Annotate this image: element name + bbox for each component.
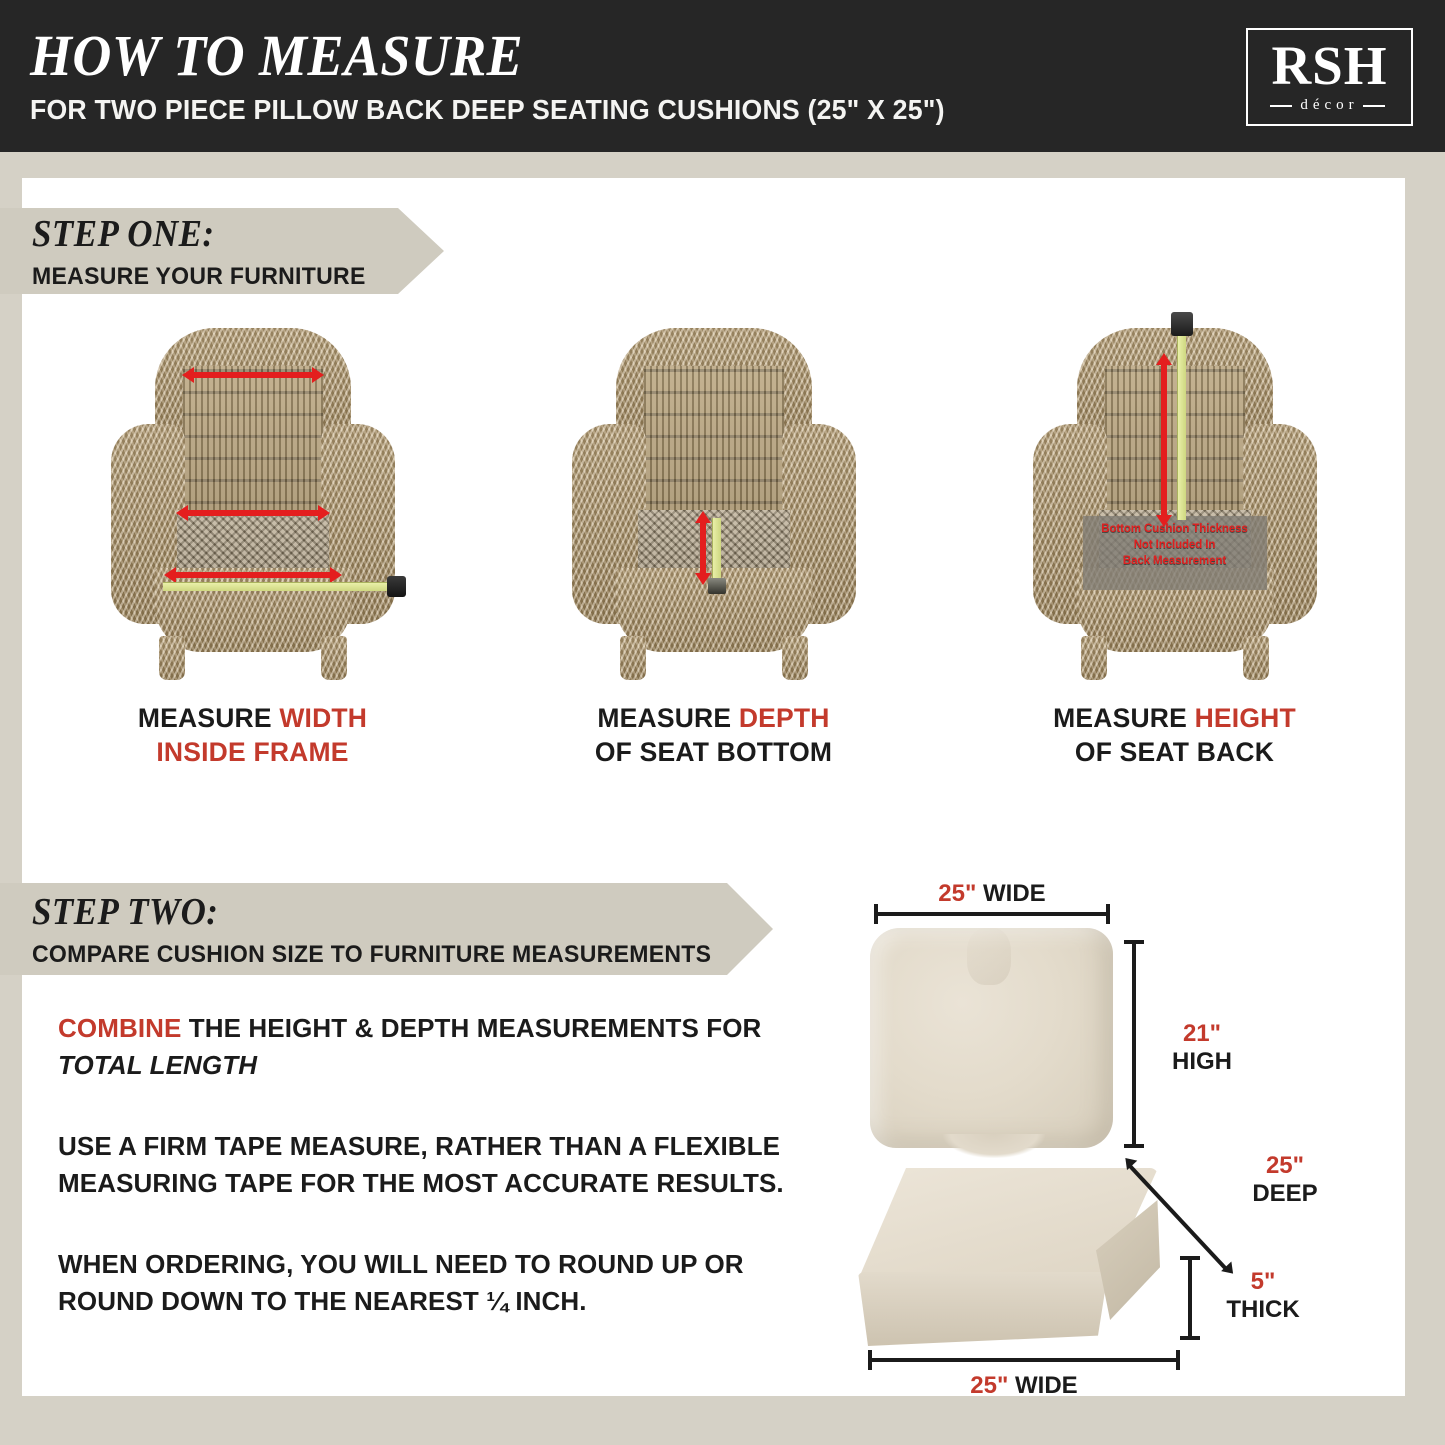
chair-back-weave (1105, 366, 1245, 526)
step-two-label: STEP TWO: (32, 890, 714, 934)
back-pillow-illustration (870, 928, 1113, 1148)
chair-illustration-height: Bottom Cushion Thickness Not Included In… (1025, 320, 1325, 680)
para1-middle: THE HEIGHT & DEPTH MEASUREMENTS FOR (181, 1013, 761, 1043)
chair-leg-left (1081, 636, 1107, 680)
pillow-height-label: 21"HIGH (1152, 1020, 1252, 1077)
width-arrow-upper (193, 372, 313, 378)
chair-card-depth: MEASURE DEPTH OF SEAT BOTTOM (514, 320, 914, 770)
warning-line-1: Bottom Cushion Thickness (1083, 522, 1267, 538)
caption-line2: OF SEAT BACK (975, 736, 1375, 770)
logo-tagline: décor (1300, 97, 1358, 114)
chair-illustration-depth (564, 320, 864, 680)
combine-accent: COMBINE (58, 1013, 181, 1043)
pillow-height-value: 21" (1183, 1020, 1221, 1047)
width-arrow-lower (175, 572, 331, 578)
caption-prefix: MEASURE (1053, 703, 1194, 733)
step-one-description: MEASURE YOUR FURNITURE (32, 263, 428, 291)
seat-thickness-value: 5" (1251, 1268, 1276, 1295)
seat-width-dimension-line (868, 1358, 1180, 1362)
instruction-paragraph-3: WHEN ORDERING, YOU WILL NEED TO ROUND UP… (58, 1246, 818, 1320)
width-arrow-middle (187, 510, 319, 516)
step-two-description: COMPARE CUSHION SIZE TO FURNITURE MEASUR… (32, 941, 743, 969)
caption-accent: DEPTH (739, 703, 830, 733)
chair-leg-right (782, 636, 808, 680)
chair-leg-left (620, 636, 646, 680)
logo-wordmark: RSH (1271, 40, 1387, 92)
seat-thickness-label: 5"THICK (1208, 1268, 1318, 1325)
seat-thickness-dimension-line (1188, 1256, 1192, 1340)
chair-caption-depth: MEASURE DEPTH OF SEAT BOTTOM (514, 702, 914, 770)
chair-leg-right (321, 636, 347, 680)
warning-line-3: Back Measurement (1083, 554, 1267, 570)
chair-card-height: Bottom Cushion Thickness Not Included In… (975, 320, 1375, 770)
seat-depth-value: 25" (1266, 1152, 1304, 1179)
pillow-width-word: WIDE (983, 880, 1046, 907)
pillow-height-dimension-line (1132, 940, 1136, 1148)
page-header: HOW TO MEASURE FOR TWO PIECE PILLOW BACK… (0, 0, 1445, 152)
pillow-width-value: 25" (938, 880, 976, 907)
step-two-banner: STEP TWO: COMPARE CUSHION SIZE TO FURNIT… (0, 883, 773, 975)
seat-depth-label: 25"DEEP (1230, 1152, 1340, 1209)
chair-caption-height: MEASURE HEIGHT OF SEAT BACK (975, 702, 1375, 770)
total-length-italic: TOTAL LENGTH (58, 1050, 257, 1080)
height-arrow (1161, 364, 1167, 516)
caption-accent: HEIGHT (1195, 703, 1296, 733)
rsh-decor-logo: RSH décor (1246, 28, 1413, 126)
tape-measure-strip (712, 518, 721, 580)
caption-line2: OF SEAT BOTTOM (514, 736, 914, 770)
caption-accent: WIDTH (279, 703, 367, 733)
chair-back-weave (183, 366, 323, 526)
chair-seat-weave (177, 510, 329, 576)
page-subtitle: FOR TWO PIECE PILLOW BACK DEEP SEATING C… (30, 94, 945, 126)
instruction-paragraph-1: COMBINE THE HEIGHT & DEPTH MEASUREMENTS … (58, 1010, 818, 1084)
pillow-width-label: 25" WIDE (874, 880, 1110, 908)
step-one-banner: STEP ONE: MEASURE YOUR FURNITURE (0, 208, 444, 294)
chair-diagram-row: MEASURE WIDTH INSIDE FRAME MEASURE DEPTH… (22, 320, 1405, 800)
seat-overlay-panel: Bottom Cushion Thickness Not Included In… (1083, 516, 1267, 590)
page-title: HOW TO MEASURE (30, 22, 523, 89)
caption-prefix: MEASURE (597, 703, 738, 733)
chair-back-weave (644, 366, 784, 526)
pillow-width-dimension-line (874, 912, 1110, 916)
caption-prefix: MEASURE (138, 703, 279, 733)
chair-leg-right (1243, 636, 1269, 680)
tape-measure-strip (1177, 334, 1186, 520)
step-one-label: STEP ONE: (32, 212, 411, 256)
tape-measure-strip (163, 582, 391, 591)
chair-leg-left (159, 636, 185, 680)
chair-illustration-width (103, 320, 403, 680)
depth-arrow (700, 522, 706, 574)
seat-depth-word: DEEP (1252, 1180, 1317, 1207)
seat-cushion-front-face (858, 1272, 1108, 1346)
caption-line2: INSIDE FRAME (53, 736, 453, 770)
cushion-thickness-warning: Bottom Cushion Thickness Not Included In… (1083, 522, 1267, 570)
tape-measure-case-icon (1171, 312, 1193, 336)
tape-measure-case-icon (387, 576, 406, 597)
pillow-height-word: HIGH (1172, 1048, 1232, 1075)
tape-measure-case-icon (708, 578, 726, 594)
chair-card-width: MEASURE WIDTH INSIDE FRAME (53, 320, 453, 770)
chair-caption-width: MEASURE WIDTH INSIDE FRAME (53, 702, 453, 770)
warning-line-2: Not Included In (1083, 538, 1267, 554)
seat-width-word: WIDE (1015, 1372, 1078, 1399)
seat-thickness-word: THICK (1226, 1296, 1299, 1323)
seat-width-label: 25" WIDE (868, 1372, 1180, 1400)
instruction-paragraph-2: USE A FIRM TAPE MEASURE, RATHER THAN A F… (58, 1128, 818, 1202)
cushion-dimension-diagram: 25" WIDE 21"HIGH 25"DEEP 5"THICK 25" WID… (840, 880, 1400, 1400)
seat-width-value: 25" (970, 1372, 1008, 1399)
step-two-instructions: COMBINE THE HEIGHT & DEPTH MEASUREMENTS … (58, 1010, 818, 1319)
